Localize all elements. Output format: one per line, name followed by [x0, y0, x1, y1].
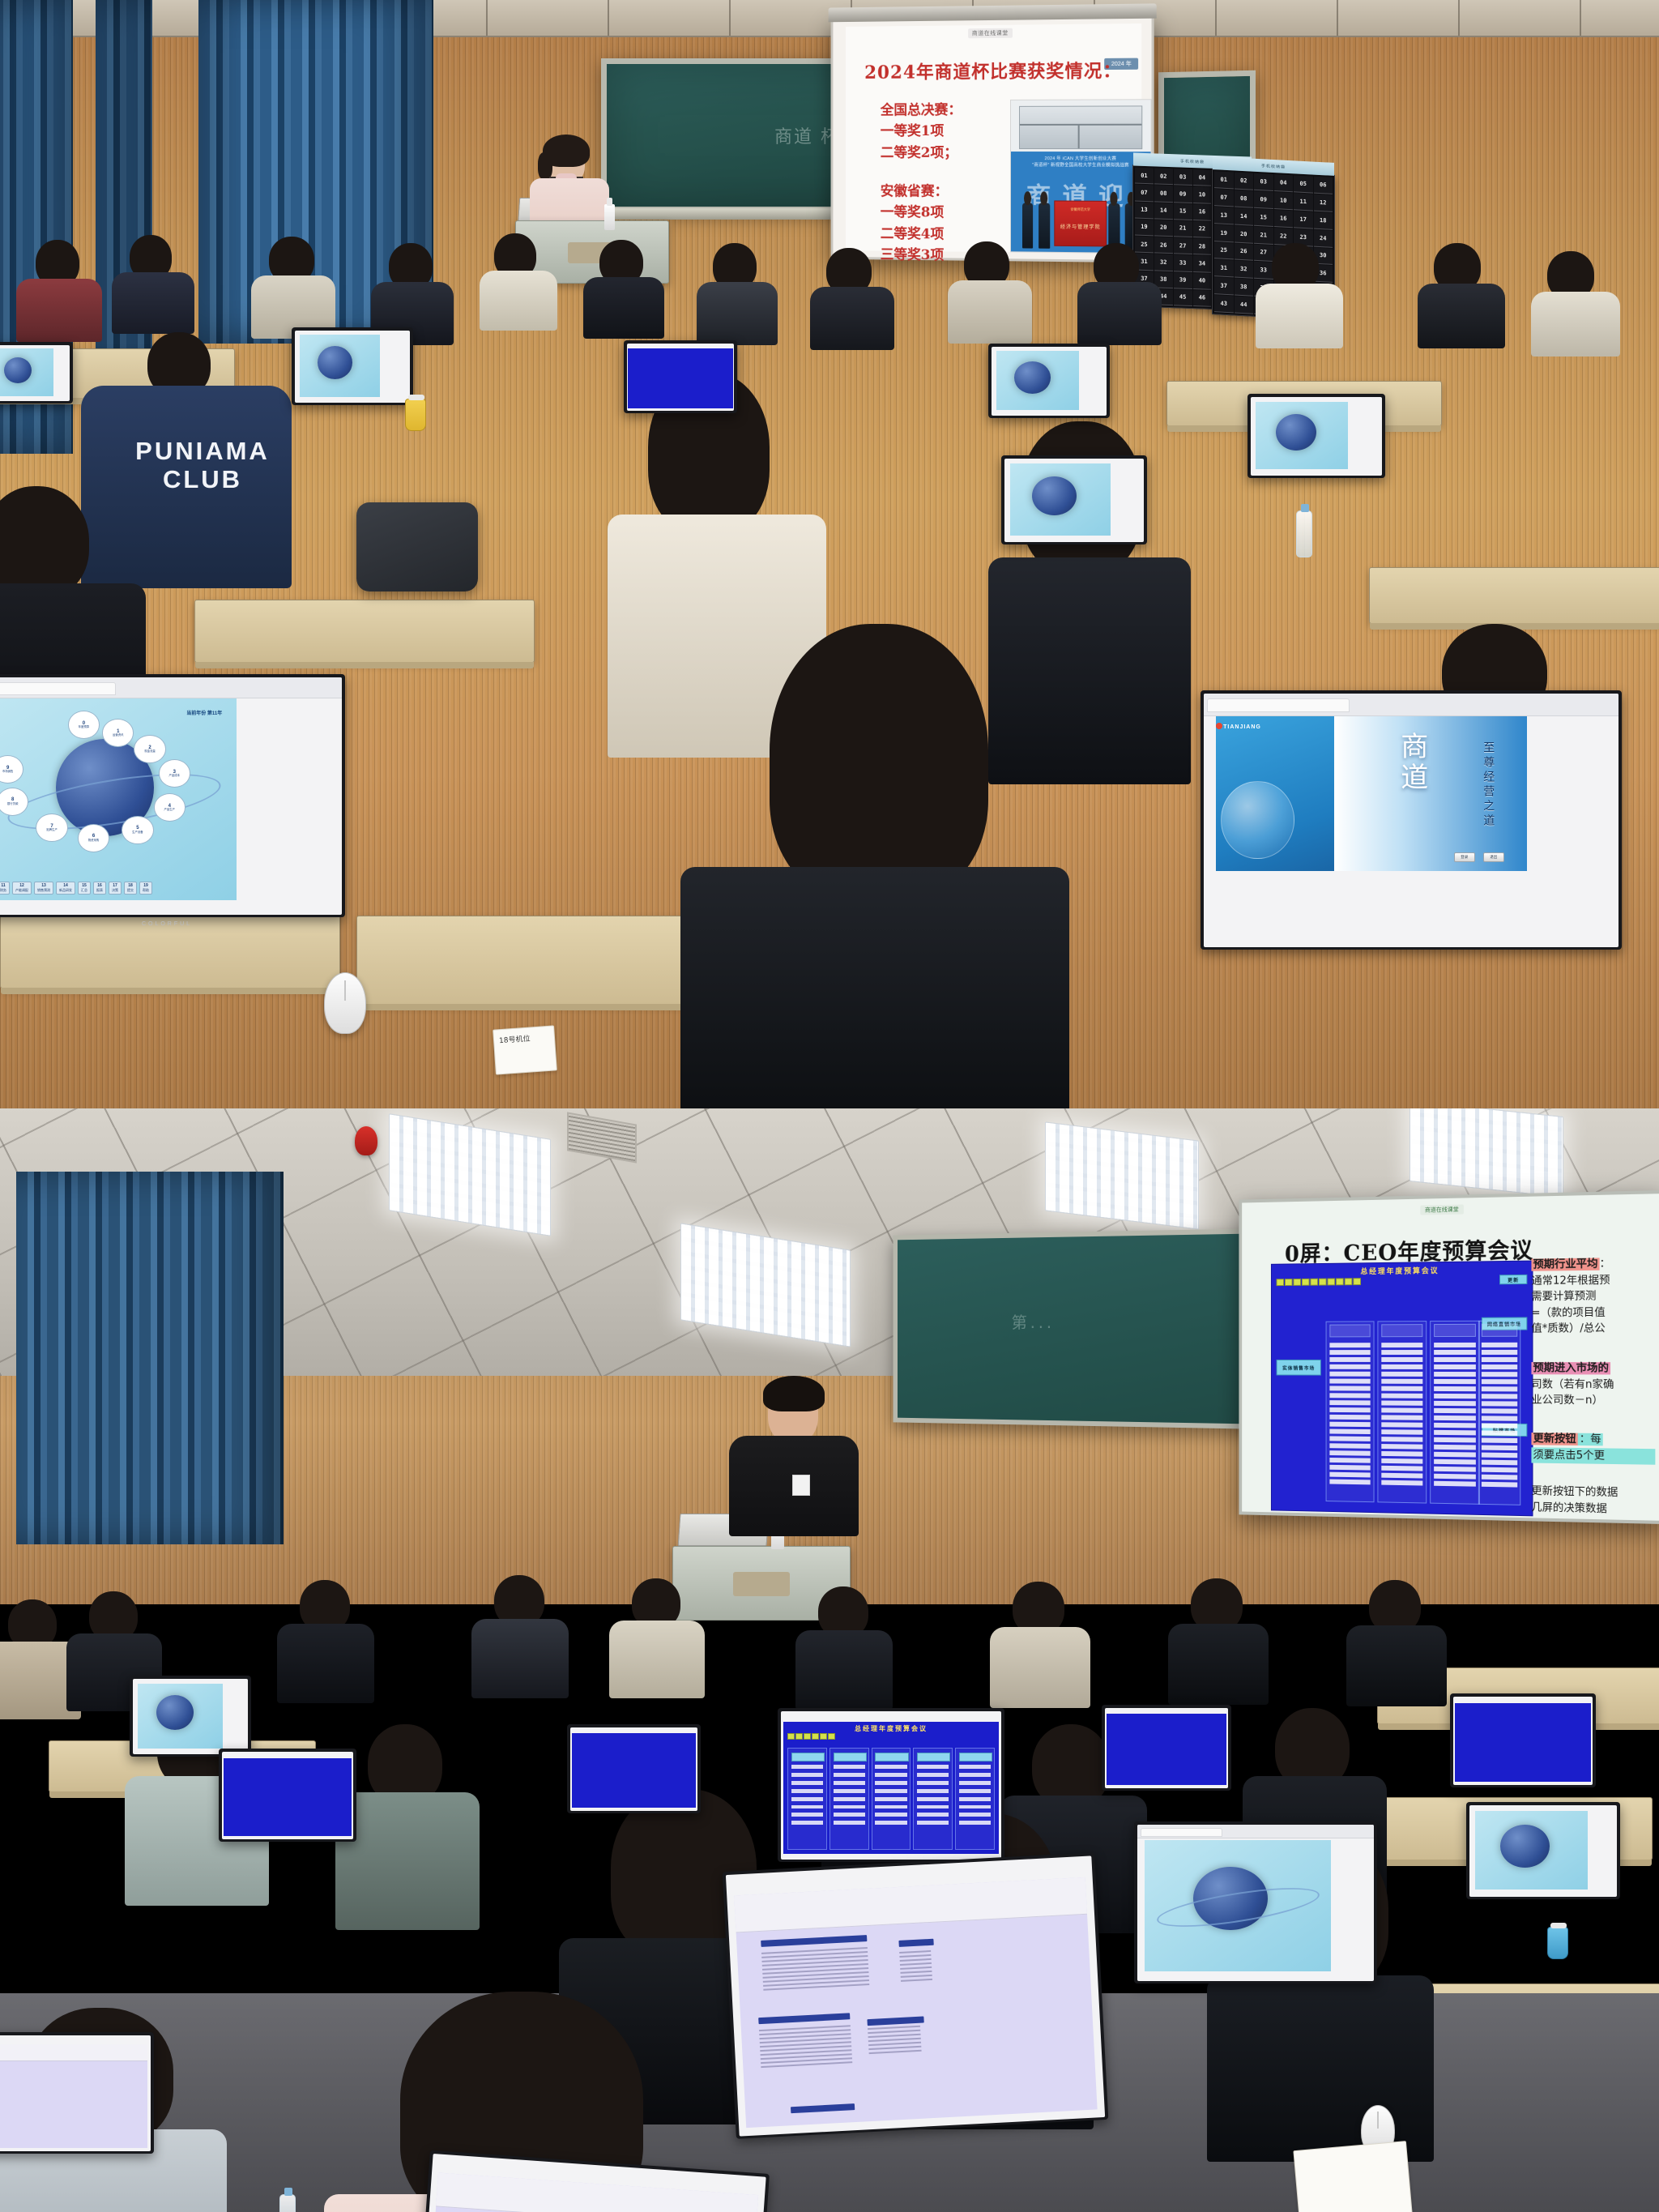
phone-pocket-cell: 31: [1214, 260, 1234, 278]
splash-buttons[interactable]: 登录 退出: [1454, 852, 1504, 862]
sheet-region-column: [1326, 1321, 1375, 1502]
phone-pocket-cell: 04: [1274, 174, 1294, 192]
award-item: 一等奖8项: [881, 203, 1000, 224]
menu-node-3[interactable]: 3产品成本: [159, 759, 190, 788]
laptop-back-row[interactable]: [0, 342, 73, 404]
section-header: [791, 2103, 854, 2113]
water-bottle-bottom: [279, 2194, 296, 2212]
splash-right-panel: 商道 至尊经营之道 登录 退出: [1334, 716, 1527, 871]
phone-pocket-cell: 43: [1214, 295, 1234, 313]
phone-pocket-cell: 33: [1254, 262, 1273, 280]
phone-pocket-cell: 26: [1235, 243, 1254, 261]
table-rows: [759, 2025, 852, 2070]
award-heading: 安徽省赛：: [881, 181, 1000, 203]
student-desk: [0, 907, 340, 989]
sim-region-grid[interactable]: [787, 1748, 995, 1849]
menu-tab[interactable]: 13销售预测: [34, 882, 53, 895]
phone-pocket-cell: 37: [1214, 277, 1234, 295]
splash-left-panel: TIANJIANG: [1216, 716, 1334, 871]
menu-node-4[interactable]: 4产品生产: [154, 793, 186, 822]
phone-pocket-cell: 12: [1314, 194, 1333, 211]
hoodie-text: PUNIAMA CLUB: [122, 438, 284, 493]
phone-pocket-cell: 27: [1174, 237, 1192, 254]
shangdao-globe-menu[interactable]: 当前年份 第11年 0年度预算 1运营资讯 2现金流量 3产品成本 4产品生产 …: [0, 698, 237, 900]
phone-pocket-cell: 21: [1254, 226, 1273, 244]
instructor-hair: [763, 1376, 825, 1411]
photo-banner-caption: 2024 年 iCAN 大学生创新创业大赛 "商道杯" 新视野全国高校大学生商业…: [1017, 156, 1145, 169]
phone-pocket-cell: 07: [1135, 185, 1154, 202]
table-rows: [868, 2026, 922, 2056]
award-item: 二等奖2项；: [881, 143, 1000, 164]
phone-pocket-cell: 39: [1174, 272, 1192, 289]
laptop-back-row-bottom[interactable]: [219, 1749, 356, 1842]
award-item: 一等奖1项: [881, 121, 1000, 142]
laptop-back-row-bottom[interactable]: [1450, 1693, 1596, 1787]
photo-window: [1019, 106, 1142, 149]
note-highlight: 预期行业平均: [1531, 1258, 1599, 1270]
phone-pocket-cell: 06: [1314, 177, 1333, 194]
phone-pocket-cell: 15: [1174, 203, 1192, 220]
menu-node-2[interactable]: 2现金流量: [134, 735, 165, 763]
projection-screen-top: 商道在线课堂 2024 年 2024年商道杯比赛获奖情况： 全国总决赛： 一等奖…: [831, 16, 1154, 263]
phone-pocket-cell: 08: [1235, 190, 1254, 207]
phone-pocket-cell: 04: [1193, 169, 1212, 186]
red-sign-text: 经济与管理学院: [1055, 222, 1107, 230]
student-desk: [194, 600, 535, 663]
laptop-back-row-bottom[interactable]: [567, 1724, 701, 1813]
phone-pocket-cell: 20: [1235, 225, 1254, 243]
bottom-classroom-photo: 第... 商道在线课堂 0屏：CEO年度预算会议 总经理年度预算会议 更新 实体…: [0, 1108, 1659, 2212]
menu-tab[interactable]: 12产能调配: [12, 882, 32, 895]
sheet-title: 总经理年度预算会议: [1272, 1264, 1533, 1278]
table-rows: [899, 1950, 932, 1984]
shangdao-globe-menu-bottom[interactable]: [1145, 1840, 1332, 1971]
phone-pocket-cell: 44: [1235, 297, 1254, 314]
menu-node-9[interactable]: 9市场销售: [0, 755, 23, 784]
phone-pocket-cell: 40: [1193, 273, 1212, 290]
top-classroom-photo: 商道 杯比赛 商道在线课堂 2024 年 2024年商道杯比赛获奖情况： 全国总…: [0, 0, 1659, 1108]
phone-pocket-cell: 32: [1154, 254, 1173, 271]
slide-note-market-entrants: 预期进入市场的 司数（若有n家确 业公司数－n）: [1531, 1360, 1655, 1409]
award-group-national: 全国总决赛： 一等奖1项 二等奖2项；: [881, 100, 1000, 164]
menu-node-0[interactable]: 0年度预算: [68, 711, 100, 739]
menu-tab[interactable]: 18提交: [124, 882, 137, 895]
app-title-shangdao: 商道: [1392, 732, 1432, 793]
laptop-back-row-bottom[interactable]: [1466, 1802, 1620, 1899]
section-header: [761, 1935, 867, 1947]
phone-pocket-cell: 01: [1135, 168, 1154, 185]
award-heading: 全国总决赛：: [881, 100, 1000, 122]
note-text: 18号机位: [499, 1033, 531, 1046]
globe-menu-year: 当前年份 第11年: [186, 709, 222, 716]
phone-pocket-cell: 14: [1235, 207, 1254, 225]
phone-pocket-cell: 10: [1193, 186, 1212, 203]
menu-tab[interactable]: 19帮助: [139, 882, 152, 895]
note-highlight: 更新按钮: [1531, 1433, 1577, 1445]
phone-pocket-cell: 33: [1174, 254, 1192, 271]
laptop-back-row[interactable]: [624, 340, 737, 413]
phone-pocket-cell: 18: [1314, 211, 1333, 229]
phone-pocket-cell: 17: [1294, 211, 1313, 228]
phone-pocket-cell: 25: [1214, 242, 1234, 260]
phone-pocket-cell: 22: [1193, 221, 1212, 238]
sheet-region-column: [1478, 1321, 1520, 1505]
app-subtitle: 至尊经营之道: [1480, 741, 1496, 829]
slide-note-update-button: 更新按钮：每 须要点击5个更: [1531, 1431, 1655, 1465]
phone-pocket-cell: 02: [1235, 172, 1254, 190]
menu-node-7[interactable]: 7贴牌生产: [36, 813, 67, 842]
globe-illustration: [1221, 781, 1294, 858]
section-header: [868, 2016, 924, 2026]
fire-alarm-bell: [355, 1126, 377, 1155]
laptop-back-row-bottom[interactable]: [130, 1676, 251, 1757]
backpack: [356, 502, 478, 591]
laptop-back-row-bottom[interactable]: [0, 2032, 154, 2154]
laptop-screen-legion[interactable]: 总经理年度预算会议: [781, 1711, 1001, 1860]
phone-pocket-cell: 34: [1193, 255, 1212, 272]
phone-pocket-cell: 24: [1314, 229, 1333, 247]
screen-roller-bar: [829, 3, 1157, 22]
phone-pocket-cell: 45: [1174, 289, 1192, 306]
menu-tab[interactable]: 15汇总: [78, 882, 91, 895]
globe-menu-tabs[interactable]: 11财务 12产能调配 13销售预测 14新品研发 15汇总 16报表 17决策…: [0, 882, 232, 895]
laptop-screen-shangdao[interactable]: TIANJIANG 商道 至尊经营之道 登录 退出: [1204, 694, 1618, 947]
laptop-legion[interactable]: 总经理年度预算会议 LEGION: [778, 1708, 1004, 1862]
phone-pocket-cell: 27: [1254, 244, 1273, 262]
ceiling-light-panel: [1045, 1121, 1199, 1229]
photo-collage: 商道 杯比赛 商道在线课堂 2024 年 2024年商道杯比赛获奖情况： 全国总…: [0, 0, 1659, 2212]
menu-tab[interactable]: 16报表: [93, 882, 106, 895]
phone-pocket-cell: 10: [1274, 192, 1294, 210]
sheet-label-physical-market: 实体销售市场: [1277, 1360, 1321, 1376]
presenter-female: [525, 141, 614, 230]
phone-pocket-cell: 20: [1154, 220, 1173, 237]
slide-note-industry-average: 预期行业平均： 通常12年根据预 需要计算预测 =（款的项目值 值*质数）/总公: [1531, 1255, 1655, 1337]
phone-pocket-cell: 26: [1154, 237, 1173, 254]
slide-embedded-photo: 2024 年 iCAN 大学生创新创业大赛 "商道杯" 新视野全国高校大学生商业…: [1010, 99, 1152, 254]
menu-tab[interactable]: 11财务: [0, 882, 10, 895]
exit-button[interactable]: 退出: [1483, 852, 1504, 862]
shangdao-splash[interactable]: TIANJIANG 商道 至尊经营之道 登录 退出: [1216, 716, 1527, 871]
sim-year-tabs[interactable]: [787, 1733, 835, 1740]
menu-node-1[interactable]: 1运营资讯: [102, 719, 134, 747]
sweater-graphic: [792, 1475, 810, 1496]
laptop-back-row-bottom[interactable]: [1102, 1705, 1231, 1791]
laptop-screen-lavender[interactable]: [726, 1855, 1105, 2136]
phone-pocket-cell: 01: [1214, 171, 1234, 189]
browser-chrome[interactable]: [0, 677, 342, 698]
notebook: [1293, 2141, 1412, 2212]
slide-title-top: 2024年商道杯比赛获奖情况：: [846, 57, 1141, 84]
laptop-back-row[interactable]: [988, 344, 1110, 418]
projection-screen-bottom: 商道在线课堂 0屏：CEO年度预算会议 总经理年度预算会议 更新 实体销售市场 …: [1239, 1190, 1659, 1524]
hand-sanitizer-bottle: [604, 204, 615, 230]
shangdao-logo: TIANJIANG: [1223, 724, 1261, 730]
sheet-update-button[interactable]: 更新: [1499, 1275, 1527, 1284]
sheet-region-column: [1430, 1321, 1480, 1505]
phone-pocket-cell: 19: [1135, 219, 1154, 236]
phone-pocket-cell: 02: [1154, 168, 1173, 185]
report-spreadsheet-2[interactable]: [424, 2173, 758, 2212]
laptop-globe-menu-bottom[interactable]: [1134, 1821, 1377, 1984]
phone-pocket-cell: 28: [1193, 238, 1212, 255]
menu-node-5[interactable]: 5生产设备: [122, 816, 153, 844]
slide-watermark-top: 商道在线课堂: [968, 28, 1013, 39]
phone-pocket-cell: 19: [1214, 224, 1234, 242]
photo-red-sign: 安徽师范大学 经济与管理学院: [1054, 200, 1107, 246]
phone-pocket-cell: 38: [1235, 279, 1254, 297]
phone-pocket-cell: 03: [1254, 173, 1273, 191]
phone-pocket-cell: 09: [1174, 186, 1192, 203]
menu-node-6[interactable]: 6物资采购: [78, 824, 109, 852]
laptop-shangdao-splash[interactable]: TIANJIANG 商道 至尊经营之道 登录 退出: [1201, 690, 1622, 950]
office-toolbar[interactable]: [734, 1877, 1087, 1933]
presenter-hair: [543, 135, 590, 167]
wireless-mouse: [324, 972, 366, 1034]
phone-pocket-cell: 05: [1294, 175, 1313, 193]
laptop-back-row[interactable]: [292, 327, 413, 405]
table-rows: [761, 1947, 869, 1993]
section-header: [758, 2013, 850, 2024]
phone-pocket-cell: 46: [1193, 290, 1212, 307]
report-spreadsheet[interactable]: [734, 1877, 1097, 2129]
phone-pocket-cell: 09: [1254, 191, 1273, 209]
laptop-brand-colorful: COLORFUL: [0, 921, 345, 927]
phone-pocket-cell: 21: [1174, 220, 1192, 237]
slide-note-footer: 更新按钮下的数据 几屏的决策数据: [1531, 1484, 1655, 1518]
laptop-screen-globe-bottom[interactable]: [1137, 1825, 1374, 1981]
phone-pocket-cell: 08: [1154, 186, 1173, 203]
blue-thermos-cup: [1547, 1927, 1568, 1959]
window-blinds-bottom: [16, 1172, 284, 1544]
slide-top: 商道在线课堂 2024 年 2024年商道杯比赛获奖情况： 全国总决赛： 一等奖…: [846, 23, 1141, 254]
office-toolbar[interactable]: [436, 2173, 757, 2212]
red-sign-small: 安徽师范大学: [1055, 207, 1107, 212]
phone-pocket-cell: 16: [1274, 210, 1294, 228]
laptop-colorful[interactable]: 当前年份 第11年 0年度预算 1运营资讯 2现金流量 3产品成本 4产品生产 …: [0, 674, 345, 917]
photo-person: [1038, 203, 1050, 249]
phone-pocket-cell: 11: [1294, 193, 1313, 211]
sim-sheet-title: 总经理年度预算会议: [783, 1724, 1000, 1733]
phone-pocket-cell: 07: [1214, 189, 1234, 207]
phone-pocket-cell: 32: [1235, 261, 1254, 279]
handwritten-note: 18号机位: [493, 1025, 557, 1074]
laptop-screen-colorful[interactable]: 当前年份 第11年 0年度预算 1运营资讯 2现金流量 3产品成本 4产品生产 …: [0, 677, 342, 915]
phone-pocket-cell: 14: [1154, 203, 1173, 220]
note-highlight: 预期进入市场的: [1531, 1362, 1610, 1374]
login-button[interactable]: 登录: [1454, 852, 1475, 862]
phone-pocket-cell: 25: [1135, 237, 1154, 254]
student-desk: [1369, 567, 1659, 624]
phone-pocket-cell: 03: [1174, 169, 1192, 186]
yellow-thermos-cup: [405, 399, 426, 431]
browser-chrome[interactable]: [1204, 694, 1618, 716]
laptop-lavender-sheet[interactable]: [723, 1852, 1109, 2139]
slide-watermark-bottom: 商道在线课堂: [1420, 1205, 1464, 1215]
budget-sheet[interactable]: 总经理年度预算会议 更新 实体销售市场 网络直销市场 贴牌市场: [1271, 1261, 1533, 1517]
phone-pocket-cell: 16: [1193, 204, 1212, 221]
sheet-year-chips[interactable]: [1277, 1278, 1361, 1286]
sheet-region-column: [1377, 1321, 1427, 1503]
photo-person: [1022, 203, 1034, 249]
phone-pocket-cell: 13: [1135, 202, 1154, 219]
phone-pocket-cell: 15: [1254, 208, 1273, 226]
phone-pocket-cell: 13: [1214, 207, 1234, 224]
water-bottle: [1296, 510, 1312, 557]
browser-chrome[interactable]: [1137, 1825, 1374, 1838]
section-header: [898, 1939, 934, 1947]
shangdao-sim-sheet[interactable]: 总经理年度预算会议: [783, 1722, 1000, 1854]
chalkboard-note-bottom: 第...: [1012, 1309, 1055, 1333]
menu-tab[interactable]: 14新品研发: [56, 882, 75, 895]
menu-tab[interactable]: 17决策: [109, 882, 122, 895]
laptop-back-row[interactable]: [1001, 455, 1147, 544]
